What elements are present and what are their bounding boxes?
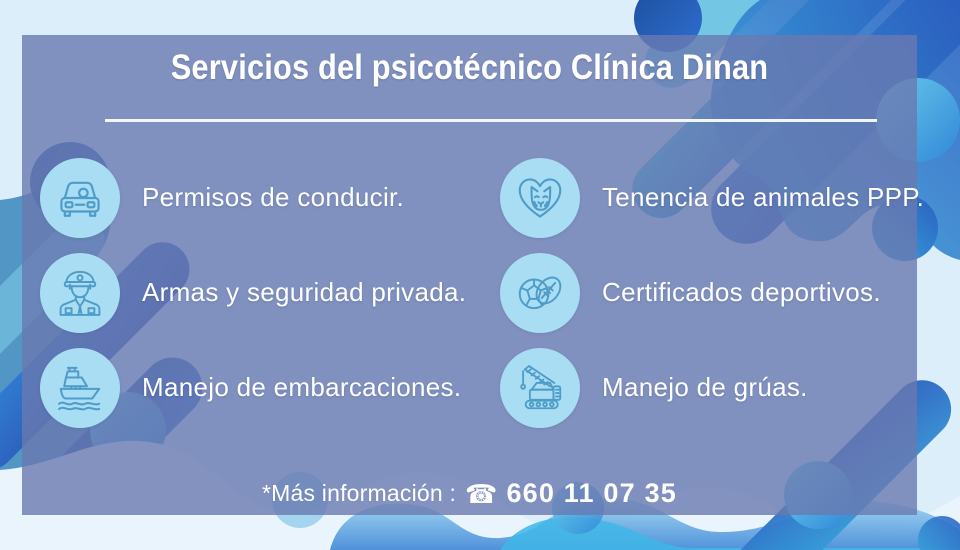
- phone-number[interactable]: 660 11 07 35: [506, 478, 677, 509]
- service-item-armas-y-seguridad-privada[interactable]: Armas y seguridad privada.: [40, 245, 500, 340]
- service-item-permisos-de-conducir[interactable]: Permisos de conducir.: [40, 150, 500, 245]
- service-label: Armas y seguridad privada.: [142, 277, 466, 308]
- page-title: Servicios del psicotécnico Clínica Dinan: [76, 48, 864, 88]
- pet-heart-icon: [500, 158, 580, 238]
- telephone-icon: ☎: [465, 481, 497, 507]
- more-info-label: *Más información :: [262, 480, 456, 507]
- page-title-wrap: Servicios del psicotécnico Clínica Dinan: [22, 48, 917, 88]
- services-grid: Permisos de conducir. Tenencia de an: [40, 150, 920, 450]
- car-front-icon: [40, 158, 120, 238]
- title-divider: [105, 119, 877, 122]
- service-label: Certificados deportivos.: [602, 277, 881, 308]
- service-item-manejo-de-embarcaciones[interactable]: Manejo de embarcaciones.: [40, 340, 500, 435]
- footer-contact: *Más información : ☎ 660 11 07 35: [22, 478, 917, 509]
- service-label: Manejo de grúas.: [602, 372, 808, 403]
- service-item-tenencia-de-animales-ppp[interactable]: Tenencia de animales PPP.: [500, 150, 920, 245]
- sports-balls-icon: [500, 253, 580, 333]
- service-item-manejo-de-gruas[interactable]: Manejo de grúas.: [500, 340, 920, 435]
- service-label: Permisos de conducir.: [142, 182, 404, 213]
- service-item-certificados-deportivos[interactable]: Certificados deportivos.: [500, 245, 920, 340]
- security-guard-icon: [40, 253, 120, 333]
- poster-canvas: Servicios del psicotécnico Clínica Dinan…: [0, 0, 960, 550]
- service-label: Tenencia de animales PPP.: [602, 182, 924, 213]
- yacht-boat-icon: [40, 348, 120, 428]
- crane-icon: [500, 348, 580, 428]
- service-label: Manejo de embarcaciones.: [142, 372, 461, 403]
